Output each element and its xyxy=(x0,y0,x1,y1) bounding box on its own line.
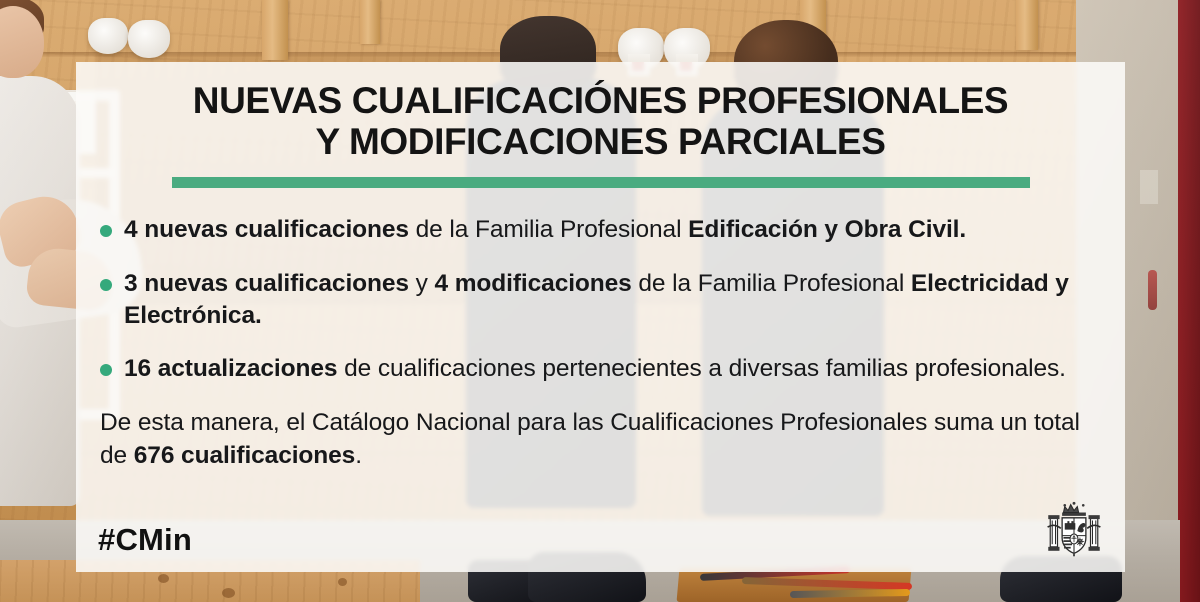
slide-canvas: NUEVAS CUALIFICACIÓNES PROFESIONALES Y M… xyxy=(0,0,1200,602)
hashtag: #CMin xyxy=(98,522,192,558)
card-footer: #CMin xyxy=(76,494,1125,572)
wood-knot xyxy=(158,574,169,583)
title-line-1: NUEVAS CUALIFICACIÓNES PROFESIONALES xyxy=(100,80,1101,121)
hanging-object xyxy=(88,18,128,54)
title-accent-rule xyxy=(172,177,1030,188)
wall-batten xyxy=(1016,0,1038,50)
list-item-text: 16 actualizaciones de cualificaciones pe… xyxy=(124,353,1066,385)
list-item-text: 4 nuevas cualificaciones de la Familia P… xyxy=(124,214,966,246)
bullet-dot-icon xyxy=(100,225,112,237)
title-line-2: Y MODIFICACIONES PARCIALES xyxy=(100,121,1101,162)
list-item: 16 actualizaciones de cualificaciones pe… xyxy=(100,353,1103,385)
bullet-dot-icon xyxy=(100,364,112,376)
page-title: NUEVAS CUALIFICACIÓNES PROFESIONALES Y M… xyxy=(76,80,1125,163)
list-item-text: 3 nuevas cualificaciones y 4 modificacio… xyxy=(124,268,1103,332)
wall-batten xyxy=(262,0,288,60)
wood-knot xyxy=(338,578,347,586)
door-sign xyxy=(1140,170,1158,204)
closing-paragraph: De esta manera, el Catálogo Nacional par… xyxy=(76,407,1125,472)
wood-knot xyxy=(222,588,235,598)
spanish-coat-of-arms-icon xyxy=(1041,498,1107,564)
bullet-dot-icon xyxy=(100,279,112,291)
hanging-object xyxy=(128,20,170,58)
door-handle xyxy=(1148,270,1157,310)
content-card: NUEVAS CUALIFICACIÓNES PROFESIONALES Y M… xyxy=(76,62,1125,572)
list-item: 3 nuevas cualificaciones y 4 modificacio… xyxy=(100,268,1103,332)
list-item: 4 nuevas cualificaciones de la Familia P… xyxy=(100,214,1103,246)
red-door-frame xyxy=(1178,0,1200,602)
wall-batten xyxy=(360,0,380,44)
bullet-list: 4 nuevas cualificaciones de la Familia P… xyxy=(76,214,1125,385)
